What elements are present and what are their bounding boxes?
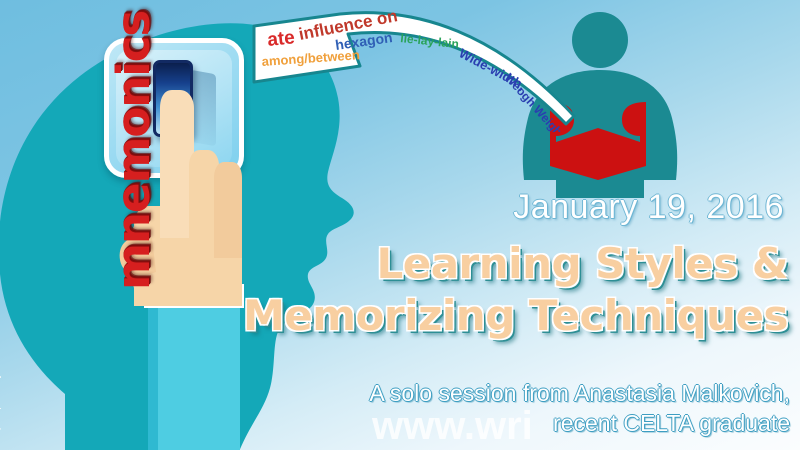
title-line-1: Learning Styles &: [168, 238, 788, 290]
mnemonics-word: mnemonics: [107, 40, 153, 290]
poster-canvas: mnemonics ate influence on among/bet: [0, 0, 800, 450]
curved-arrow-banner: ate influence on among/between hexagon l…: [248, 4, 608, 132]
event-date: January 19, 2016: [513, 188, 784, 227]
title-line-2: Memorizing Techniques: [168, 290, 788, 342]
image-source-credit: https://pixabay.com CC0 Public Domain: [0, 255, 2, 442]
page-title: Learning Styles & Memorizing Techniques: [168, 238, 788, 342]
banner-word-0: ate: [266, 27, 296, 51]
page-subtitle: A solo session from Anastasia Malkovich,…: [150, 378, 790, 438]
subtitle-line-1: A solo session from Anastasia Malkovich,: [150, 378, 790, 408]
subtitle-line-2: recent CELTA graduate: [150, 408, 790, 438]
